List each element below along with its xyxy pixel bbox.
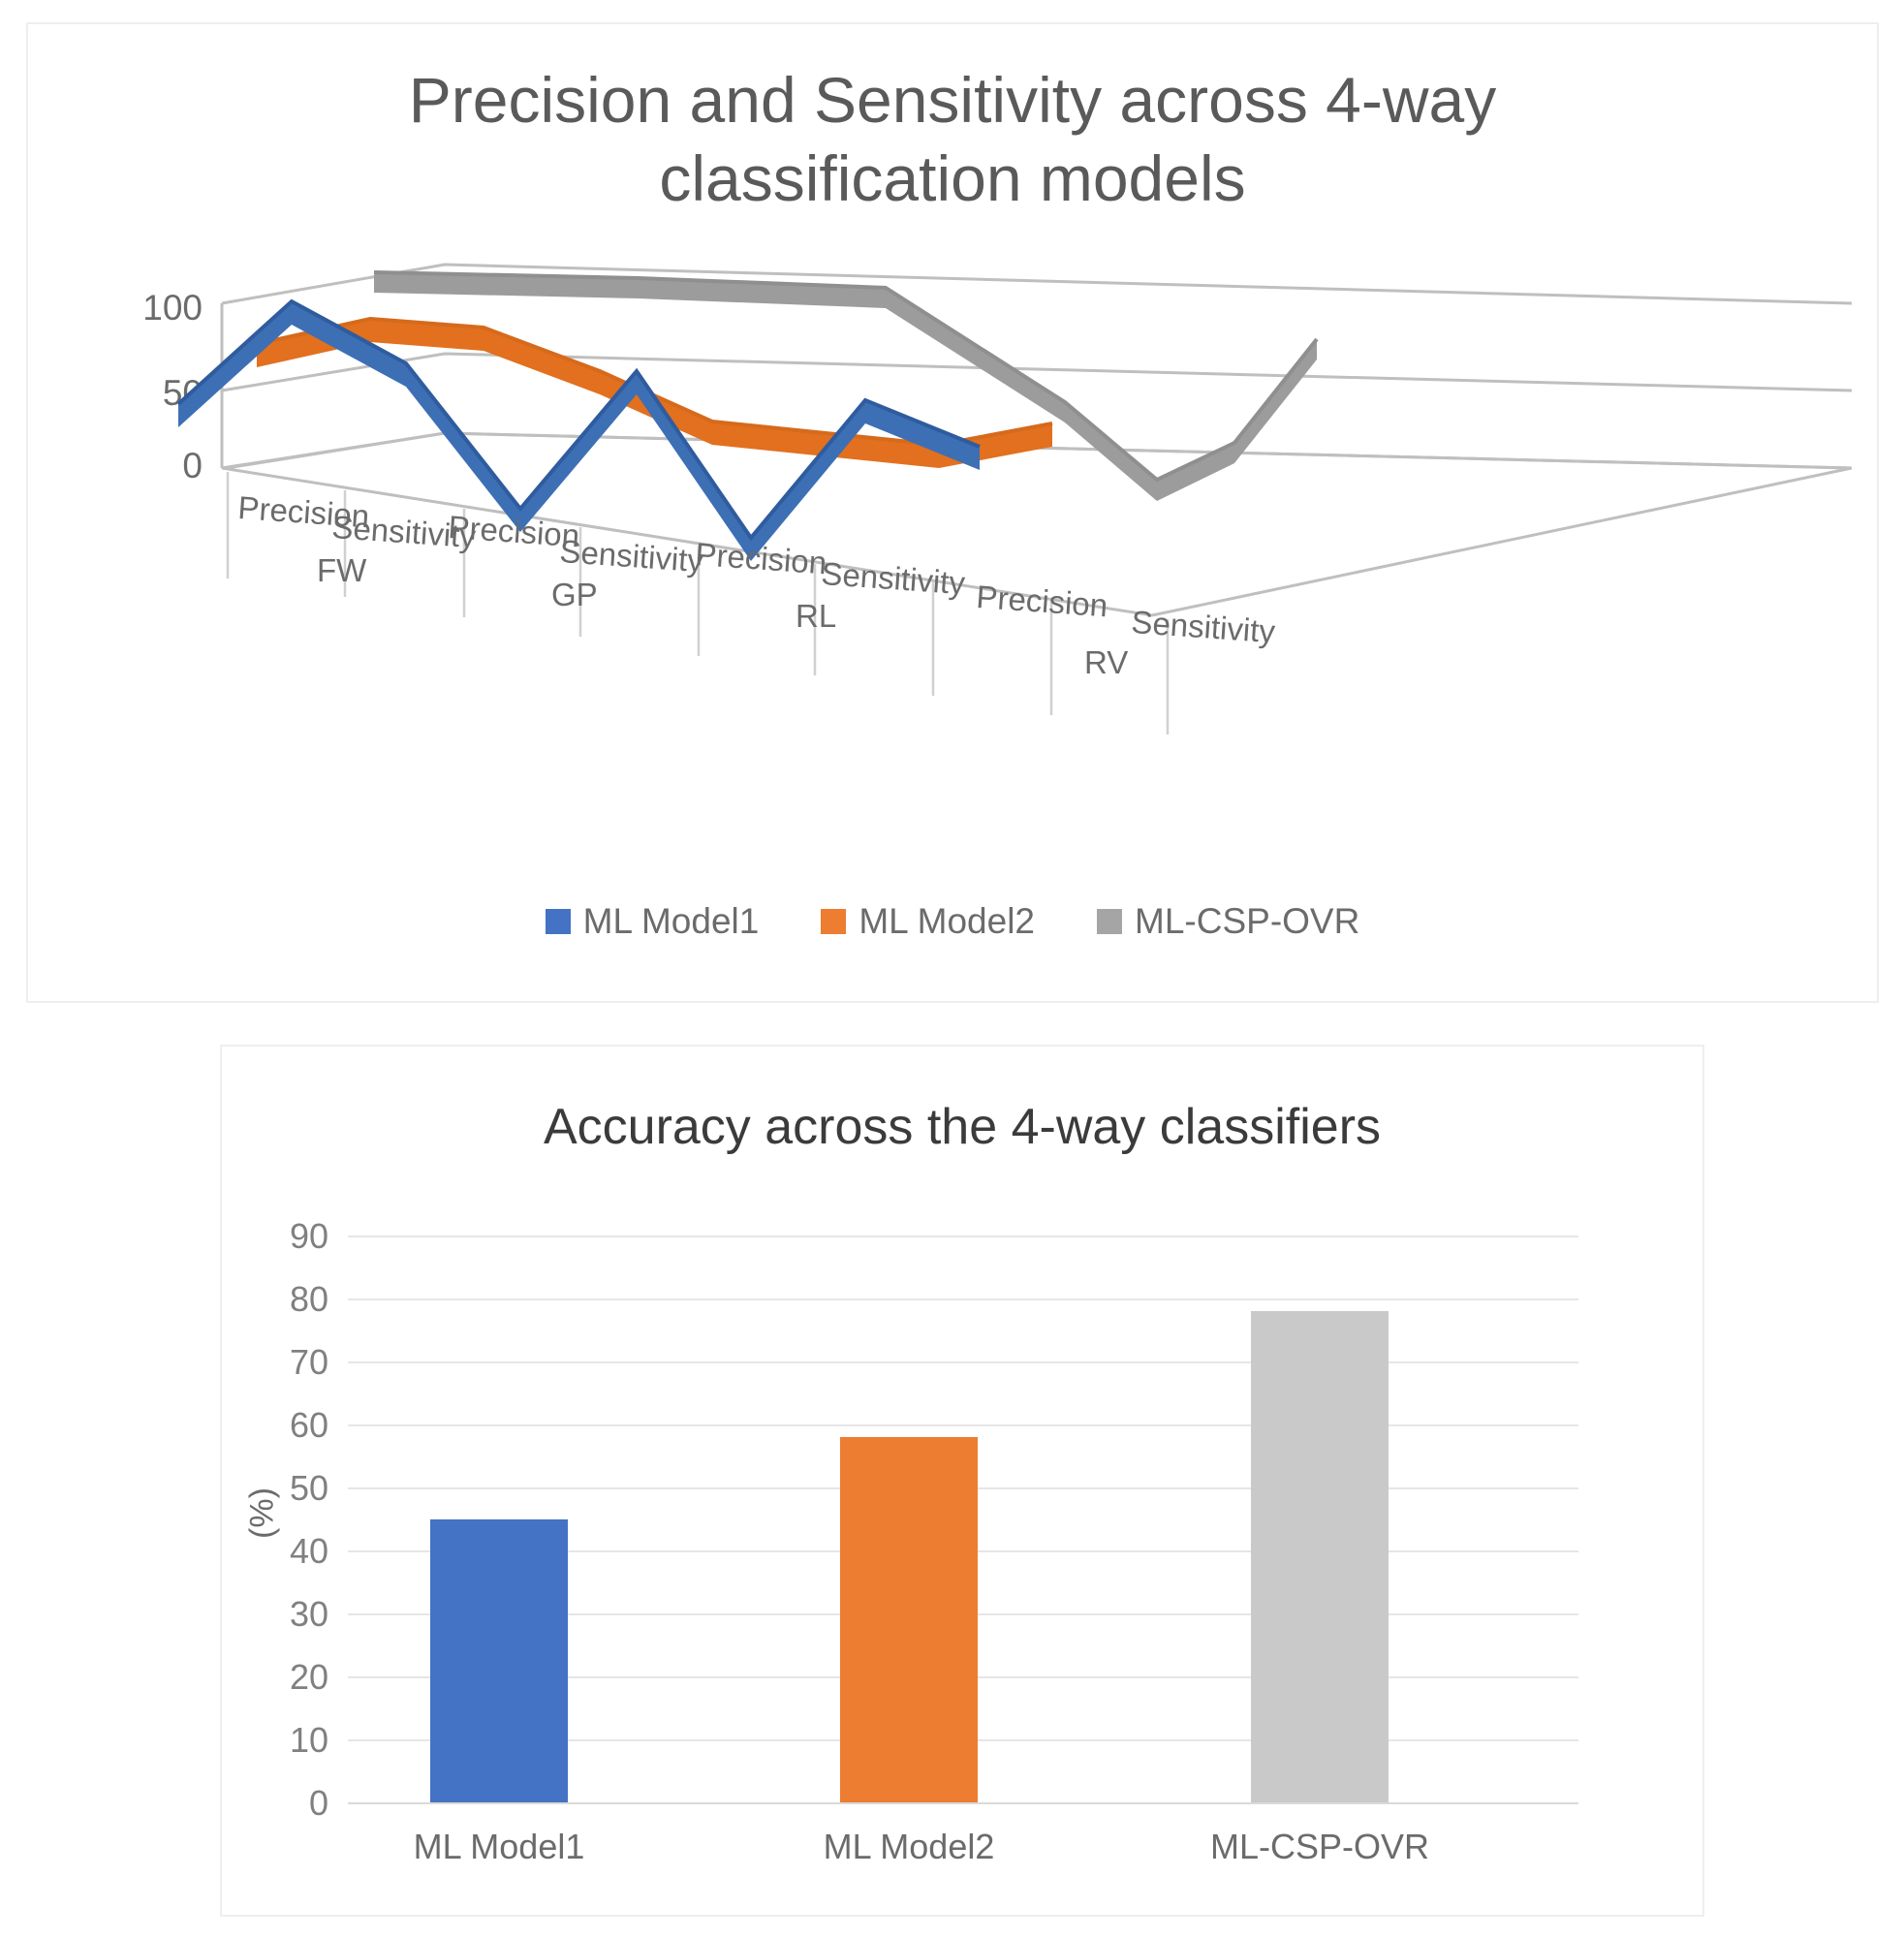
legend-label-ml-csp-ovr: ML-CSP-OVR xyxy=(1135,901,1359,942)
series-ml-csp-ovr-ribbon xyxy=(374,272,1317,501)
bar-ml-csp-ovr[interactable] xyxy=(1251,1311,1389,1802)
bar-ytick-50: 50 xyxy=(241,1468,328,1509)
bar-ytick-90: 90 xyxy=(241,1216,328,1257)
line3d-group-gp: GP xyxy=(551,577,598,613)
line3d-group-rv: RV xyxy=(1084,644,1128,681)
line3d-plot-area xyxy=(28,218,1881,896)
bar-ytick-0: 0 xyxy=(241,1783,328,1824)
bar-ytick-60: 60 xyxy=(241,1405,328,1446)
line3d-legend: ML Model1 ML Model2 ML-CSP-OVR xyxy=(28,901,1877,942)
line3d-group-rl: RL xyxy=(796,598,836,635)
bar-gridline-90 xyxy=(348,1235,1578,1237)
line3d-panel: Precision and Sensitivity across 4-way c… xyxy=(26,22,1879,1003)
bar-xlabel-ml-model1: ML Model1 xyxy=(373,1827,625,1867)
legend-swatch-ml-model1 xyxy=(546,909,571,934)
legend-label-ml-model1: ML Model1 xyxy=(583,901,760,942)
bar-gridline-70 xyxy=(348,1361,1578,1363)
legend-label-ml-model2: ML Model2 xyxy=(858,901,1035,942)
line3d-title: Precision and Sensitivity across 4-way c… xyxy=(28,61,1877,217)
bar-xlabel-ml-model2: ML Model2 xyxy=(783,1827,1035,1867)
bar-ml-model2[interactable] xyxy=(840,1437,978,1802)
bar-ml-model1[interactable] xyxy=(430,1519,568,1803)
bar-ytick-20: 20 xyxy=(241,1657,328,1698)
bar-panel: Accuracy across the 4-way classifiers (%… xyxy=(220,1045,1704,1917)
legend-item-ml-model2[interactable]: ML Model2 xyxy=(821,901,1035,942)
bar-ytick-30: 30 xyxy=(241,1594,328,1635)
bar-ytick-80: 80 xyxy=(241,1279,328,1320)
line3d-title-line1: Precision and Sensitivity across 4-way xyxy=(28,61,1877,140)
bar-xlabel-ml-csp-ovr: ML-CSP-OVR xyxy=(1194,1827,1446,1867)
bar-plot-area: (%) 90 80 70 60 50 40 30 20 10 0 ML Mode… xyxy=(222,1047,1706,1919)
legend-item-ml-csp-ovr[interactable]: ML-CSP-OVR xyxy=(1097,901,1359,942)
bar-ytick-40: 40 xyxy=(241,1531,328,1572)
line3d-title-line2: classification models xyxy=(28,140,1877,218)
line3d-group-fw: FW xyxy=(317,552,366,589)
bar-ytick-10: 10 xyxy=(241,1720,328,1761)
line3d-svg xyxy=(28,218,1881,896)
legend-swatch-ml-csp-ovr xyxy=(1097,909,1122,934)
bar-gridline-60 xyxy=(348,1424,1578,1426)
legend-swatch-ml-model2 xyxy=(821,909,846,934)
bar-axis-baseline xyxy=(348,1802,1578,1804)
bar-gridline-80 xyxy=(348,1298,1578,1300)
legend-item-ml-model1[interactable]: ML Model1 xyxy=(546,901,760,942)
bar-ytick-70: 70 xyxy=(241,1342,328,1383)
